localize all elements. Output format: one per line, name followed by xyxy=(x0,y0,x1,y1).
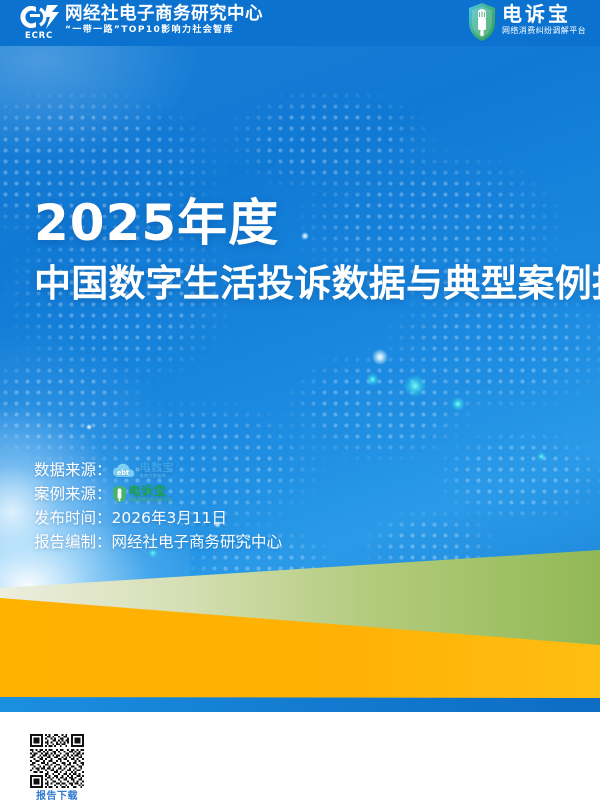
meta-row-publish-date: 发布时间： 2026年3月11日 xyxy=(34,506,282,530)
ecrc-logo-text: 网经社电子商务研究中心 “一带一路”TOP10影响力社会智库 xyxy=(65,3,263,37)
header-bar: ECRC 网经社电子商务研究中心 “一带一路”TOP10影响力社会智库 xyxy=(0,0,600,46)
shield-fist-icon xyxy=(467,2,497,42)
publish-date-value: 2026年3月11日 xyxy=(112,506,228,530)
report-cover-page: ECRC 网经社电子商务研究中心 “一带一路”TOP10影响力社会智库 xyxy=(0,0,600,800)
decorative-ribbon-bands xyxy=(0,540,600,740)
meta-label: 案例来源： xyxy=(34,482,112,506)
dianshubao-logo[interactable]: 电诉宝 网络消费纠纷调解平台 xyxy=(467,2,586,42)
diansubao-case-logo[interactable]: 电诉宝 网络消费纠纷调解平台 xyxy=(112,485,173,503)
dianshubao-data-logo[interactable]: ebt 电数宝 电商大数据库 xyxy=(112,461,175,479)
ecrc-logo-name: 网经社电子商务研究中心 xyxy=(65,4,263,24)
meta-label: 发布时间： xyxy=(34,506,112,530)
diansubao-case-tagline: 网络消费纠纷调解平台 xyxy=(129,497,173,503)
qr-download-block[interactable]: 报告下载 xyxy=(26,734,88,800)
footer-bar: 报告下载 xyxy=(0,712,600,800)
qr-code-icon[interactable] xyxy=(26,734,88,788)
dianshubao-data-logo-text: 电数宝 电商大数据库 xyxy=(140,462,175,479)
ecrc-logo[interactable]: ECRC 网经社电子商务研究中心 “一带一路”TOP10影响力社会智库 xyxy=(16,3,263,41)
report-year: 2025年度 xyxy=(34,196,600,250)
meta-label: 报告编制： xyxy=(34,530,112,554)
report-metadata: 数据来源： ebt 电数宝 电商大数据库 案例来源： xyxy=(34,458,282,554)
shield-fist-icon xyxy=(112,485,127,503)
compiled-by-value: 网经社电子商务研究中心 xyxy=(112,530,283,554)
dianshubao-logo-text: 电诉宝 网络消费纠纷调解平台 xyxy=(502,2,586,37)
dianshubao-logo-name: 电诉宝 xyxy=(502,3,586,25)
meta-row-case-source: 案例来源： 电诉宝 网络消费纠纷调解平台 xyxy=(34,482,282,506)
title-block: 2025年度 中国数字生活投诉数据与典型案例报告 xyxy=(34,196,600,306)
diansubao-case-logo-text: 电诉宝 网络消费纠纷调解平台 xyxy=(129,485,173,503)
qr-download-caption: 报告下载 xyxy=(26,791,88,800)
meta-row-compiled-by: 报告编制： 网经社电子商务研究中心 xyxy=(34,530,282,554)
dianshubao-data-name: 电数宝 xyxy=(140,462,175,473)
meta-row-data-source: 数据来源： ebt 电数宝 电商大数据库 xyxy=(34,458,282,482)
diansubao-case-name: 电诉宝 xyxy=(129,485,173,497)
report-title: 中国数字生活投诉数据与典型案例报告 xyxy=(34,262,600,306)
meta-label: 数据来源： xyxy=(34,458,112,482)
ecrc-monogram-icon: ECRC xyxy=(16,3,62,41)
ecrc-abbreviation: ECRC xyxy=(16,31,62,41)
cloud-data-icon: ebt xyxy=(112,462,138,478)
svg-text:ebt: ebt xyxy=(116,469,128,477)
dianshubao-logo-tagline: 网络消费纠纷调解平台 xyxy=(502,25,586,37)
ecrc-logo-tagline: “一带一路”TOP10影响力社会智库 xyxy=(65,24,263,37)
